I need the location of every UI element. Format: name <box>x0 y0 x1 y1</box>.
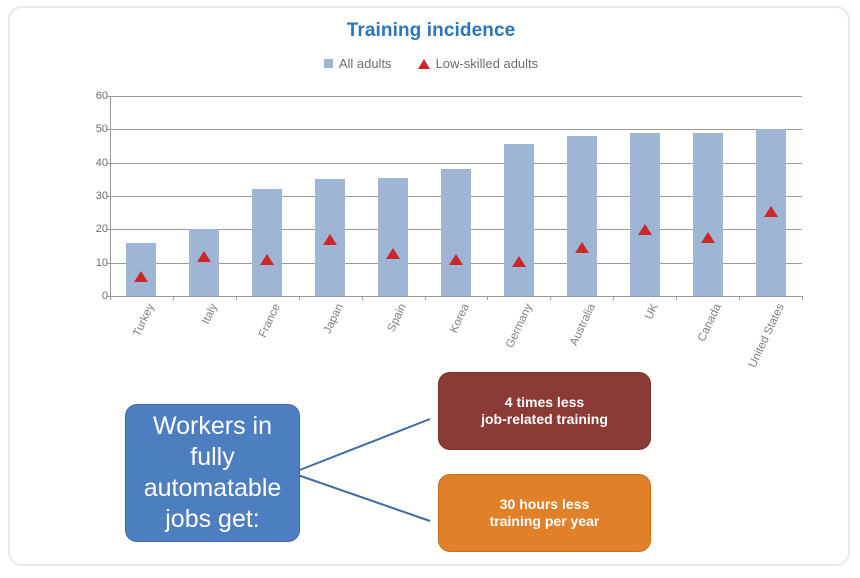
triangle-marker <box>764 206 778 217</box>
y-axis-tick-mark <box>106 196 110 197</box>
chart-frame: Training incidence All adults Low-skille… <box>8 6 850 566</box>
x-axis-tick-mark <box>550 296 551 300</box>
x-axis-tick-label-text: United States <box>746 302 786 370</box>
bar <box>567 136 597 296</box>
x-axis-tick-label-text: Australia <box>568 302 598 348</box>
callout-training-hours: 30 hours lesstraining per year <box>438 474 651 552</box>
plot-area: 0102030405060 TurkeyItalyFranceJapanSpai… <box>110 96 802 296</box>
x-axis-tick-mark <box>802 296 803 300</box>
x-axis-tick-label-text: Italy <box>200 302 220 326</box>
x-axis-tick-mark <box>299 296 300 300</box>
x-axis-tick-label-text: Canada <box>696 302 724 344</box>
triangle-marker <box>638 224 652 235</box>
x-axis-tick-mark <box>676 296 677 300</box>
gridline <box>110 96 802 97</box>
callout-line: jobs get: <box>144 504 282 535</box>
callout-line: Workers in <box>144 411 282 442</box>
x-axis-tick-mark <box>739 296 740 300</box>
bar <box>441 169 471 296</box>
triangle-marker <box>197 251 211 262</box>
x-axis-tick-label-text: Korea <box>448 302 472 335</box>
triangle-marker <box>512 256 526 267</box>
triangle-marker <box>134 271 148 282</box>
y-axis-tick-mark <box>106 163 110 164</box>
x-axis-tick-label-text: Germany <box>504 302 535 350</box>
x-axis-tick-label-text: Spain <box>386 302 409 334</box>
x-axis-tick-label-text: France <box>257 302 283 340</box>
callout-training-hours-text: 30 hours lesstraining per year <box>490 496 600 531</box>
x-axis-tick-label-text: UK <box>643 302 661 322</box>
callout-line: fully <box>144 442 282 473</box>
triangle-marker <box>323 234 337 245</box>
bar <box>693 133 723 296</box>
x-axis-tick-mark <box>613 296 614 300</box>
callout-workers: Workers infullyautomatablejobs get: <box>125 404 300 542</box>
triangle-marker <box>260 254 274 265</box>
y-axis-tick-mark <box>106 229 110 230</box>
y-axis-tick-mark <box>106 129 110 130</box>
bar <box>252 189 282 296</box>
callout-line: training per year <box>490 513 600 531</box>
y-axis-tick-mark <box>106 263 110 264</box>
callout-line: job-related training <box>481 411 608 429</box>
triangle-marker <box>701 232 715 243</box>
x-axis-tick-mark <box>425 296 426 300</box>
bar <box>189 229 219 296</box>
triangle-marker <box>449 254 463 265</box>
bar <box>378 178 408 296</box>
callout-workers-text: Workers infullyautomatablejobs get: <box>144 411 282 536</box>
x-axis-tick-mark <box>173 296 174 300</box>
x-axis-tick-mark <box>362 296 363 300</box>
x-axis-tick-label-text: Japan <box>322 302 346 335</box>
callout-line: automatable <box>144 473 282 504</box>
x-axis-tick-mark <box>110 296 111 300</box>
gridline <box>110 129 802 130</box>
x-axis-tick-mark <box>236 296 237 300</box>
triangle-marker <box>575 242 589 253</box>
callout-line: 4 times less <box>481 394 608 412</box>
y-axis-tick-mark <box>106 96 110 97</box>
triangle-marker <box>386 248 400 259</box>
x-axis-tick-mark <box>487 296 488 300</box>
callout-job-related-training: 4 times lessjob-related training <box>438 372 651 450</box>
x-axis-tick-label-text: Turkey <box>132 302 158 339</box>
bar <box>504 144 534 296</box>
callout-job-related-training-text: 4 times lessjob-related training <box>481 394 608 429</box>
bar <box>630 133 660 296</box>
callout-line: 30 hours less <box>490 496 600 514</box>
